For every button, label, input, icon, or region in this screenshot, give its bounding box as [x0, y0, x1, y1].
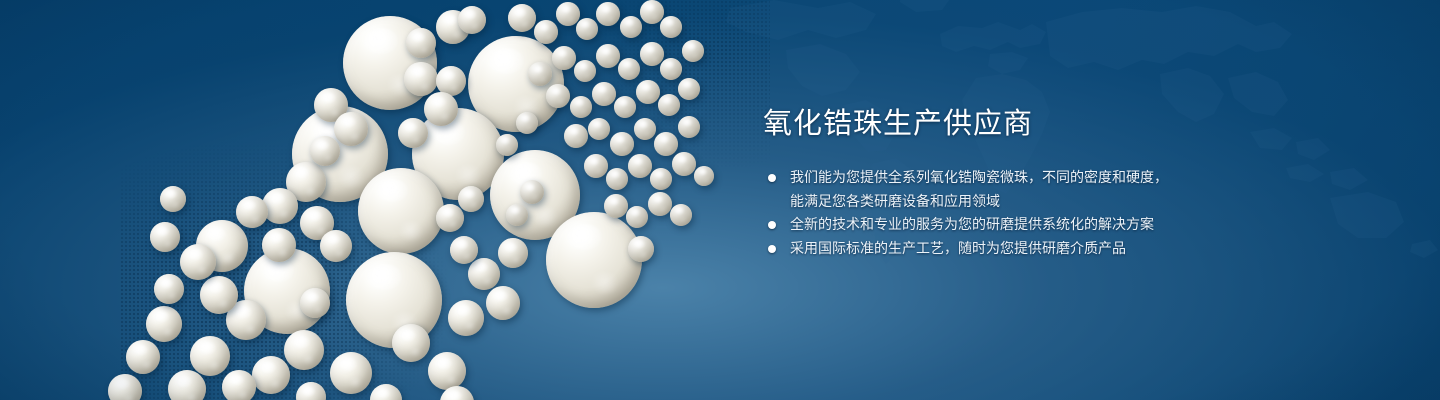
list-item-line-1: 我们能为您提供全系列氧化锆陶瓷微珠，不同的密度和硬度，: [790, 166, 1323, 190]
page-title: 氧化锆珠生产供应商: [763, 104, 1323, 144]
hero-text-block: 氧化锆珠生产供应商 我们能为您提供全系列氧化锆陶瓷微珠，不同的密度和硬度， 能满…: [763, 104, 1323, 260]
list-item-line-1: 全新的技术和专业的服务为您的研磨提供系统化的解决方案: [790, 213, 1323, 237]
feature-list: 我们能为您提供全系列氧化锆陶瓷微珠，不同的密度和硬度， 能满足您各类研磨设备和应…: [763, 166, 1323, 260]
list-item: 采用国际标准的生产工艺，随时为您提供研磨介质产品: [763, 237, 1323, 261]
hero-banner: 氧化锆珠生产供应商 我们能为您提供全系列氧化锆陶瓷微珠，不同的密度和硬度， 能满…: [0, 0, 1440, 400]
list-item: 我们能为您提供全系列氧化锆陶瓷微珠，不同的密度和硬度， 能满足您各类研磨设备和应…: [763, 166, 1323, 213]
bullet-dot-icon: [768, 245, 776, 253]
bullet-dot-icon: [768, 174, 776, 182]
bullet-dot-icon: [768, 221, 776, 229]
list-item-line-1: 采用国际标准的生产工艺，随时为您提供研磨介质产品: [790, 237, 1323, 261]
list-item-line-2: 能满足您各类研磨设备和应用领域: [790, 190, 1323, 214]
list-item: 全新的技术和专业的服务为您的研磨提供系统化的解决方案: [763, 213, 1323, 237]
